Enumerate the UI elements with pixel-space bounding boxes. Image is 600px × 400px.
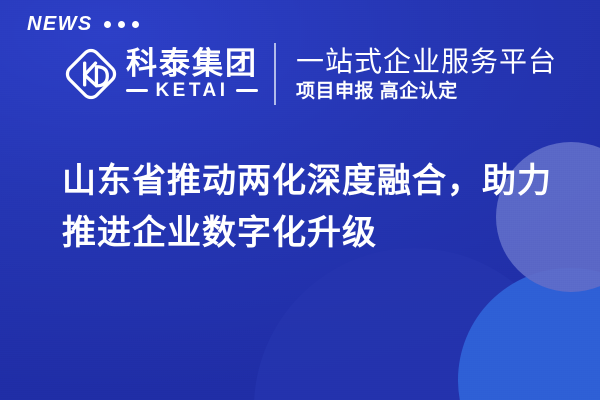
brand-wordmark: 科泰集团 KETAI (126, 48, 258, 101)
vertical-divider (274, 43, 276, 105)
headline: 山东省推动两化深度融合，助力 推进企业数字化升级 (62, 155, 562, 259)
news-label: NEWS (27, 14, 139, 34)
brand-name-en-row: KETAI (126, 81, 258, 100)
rule-left (126, 89, 148, 92)
tagline-sub: 项目申报 高企认定 (296, 81, 557, 104)
ketai-diamond-kd-monogram-icon (62, 45, 120, 103)
tagline-main: 一站式企业服务平台 (296, 45, 557, 78)
headline-line-2: 推进企业数字化升级 (62, 207, 562, 259)
dot-icon (132, 21, 139, 28)
brand-name-cn: 科泰集团 (126, 48, 258, 80)
rule-right (236, 89, 258, 92)
news-banner: NEWS 科泰集团 KETAI (0, 0, 600, 400)
dot-icon (118, 21, 125, 28)
deco-circle-bright-blue (458, 268, 600, 400)
news-label-text: NEWS (27, 14, 93, 34)
tagline-block: 一站式企业服务平台 项目申报 高企认定 (296, 45, 557, 104)
brand-lockup: 科泰集团 KETAI 一站式企业服务平台 项目申报 高企认定 (62, 43, 557, 105)
brand-name-en: KETAI (155, 81, 228, 100)
headline-line-1: 山东省推动两化深度融合，助力 (62, 155, 562, 207)
deco-circle-dark-blue (254, 248, 574, 400)
news-dots-icon (104, 21, 139, 28)
dot-icon (104, 21, 111, 28)
